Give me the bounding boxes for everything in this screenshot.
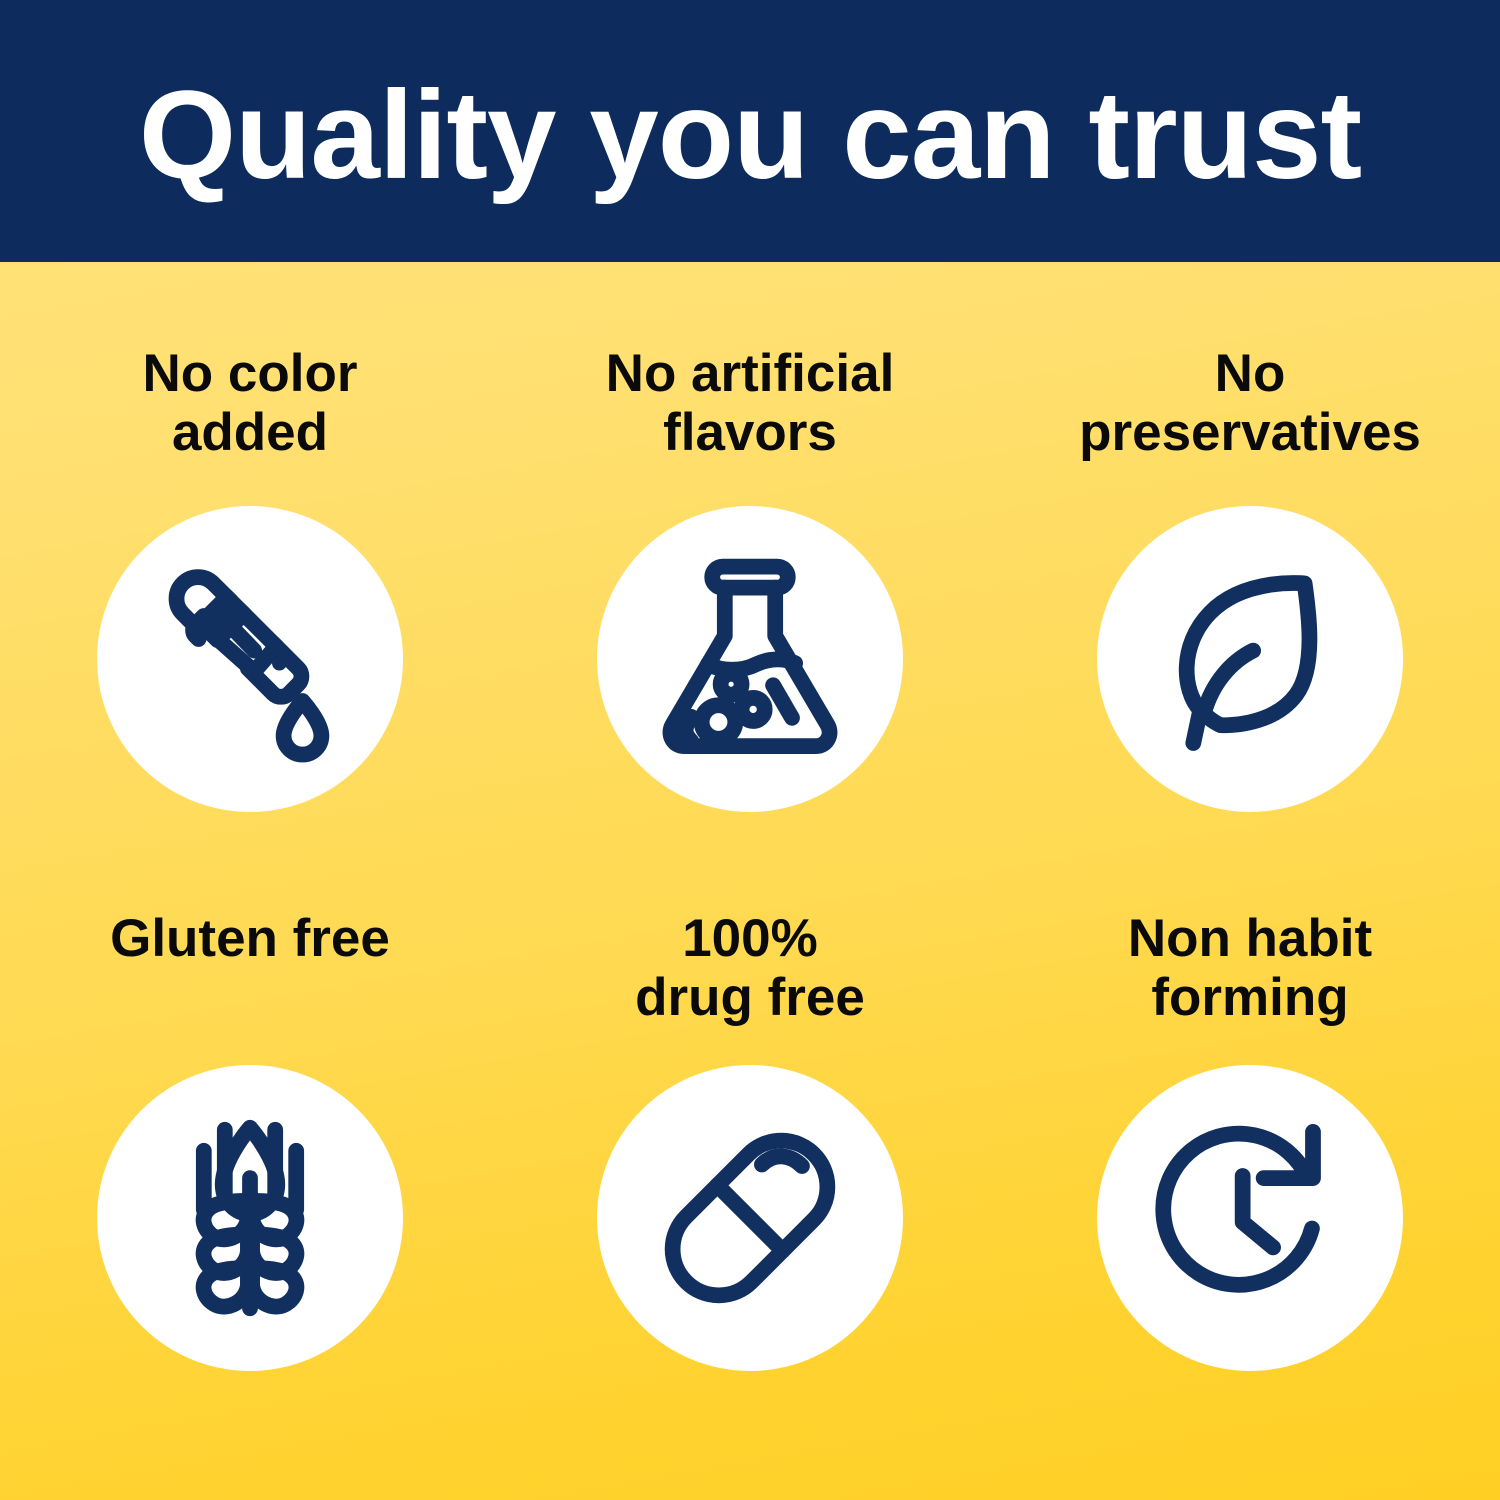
leaf-icon	[1145, 554, 1355, 764]
icon-circle	[597, 1065, 903, 1371]
page-title: Quality you can trust	[139, 73, 1361, 198]
icon-circle	[97, 506, 403, 812]
quality-badges-graphic: Quality you can trust No color added	[0, 0, 1500, 1500]
feature-no-preservatives: No preservatives	[1000, 262, 1500, 881]
feature-label: No color added	[143, 344, 358, 468]
feature-label: Gluten free	[110, 909, 390, 1033]
feature-non-habit-forming: Non habit forming	[1000, 881, 1500, 1500]
flask-icon	[645, 554, 855, 764]
feature-drug-free: 100% drug free	[500, 881, 1000, 1500]
clock-rotate-icon	[1145, 1113, 1355, 1323]
features-grid: No color added	[0, 262, 1500, 1500]
icon-circle	[97, 1065, 403, 1371]
feature-label: 100% drug free	[635, 909, 865, 1033]
feature-label: Non habit forming	[1128, 909, 1372, 1033]
feature-no-color-added: No color added	[0, 262, 500, 881]
icon-circle	[1097, 506, 1403, 812]
feature-no-artificial-flavors: No artificial flavors	[500, 262, 1000, 881]
feature-label: No artificial flavors	[606, 344, 895, 468]
feature-gluten-free: Gluten free	[0, 881, 500, 1500]
capsule-icon	[645, 1113, 855, 1323]
dropper-icon	[145, 554, 355, 764]
wheat-icon	[145, 1113, 355, 1323]
icon-circle	[1097, 1065, 1403, 1371]
feature-label: No preservatives	[1079, 344, 1421, 468]
icon-circle	[597, 506, 903, 812]
header-banner: Quality you can trust	[0, 0, 1500, 262]
